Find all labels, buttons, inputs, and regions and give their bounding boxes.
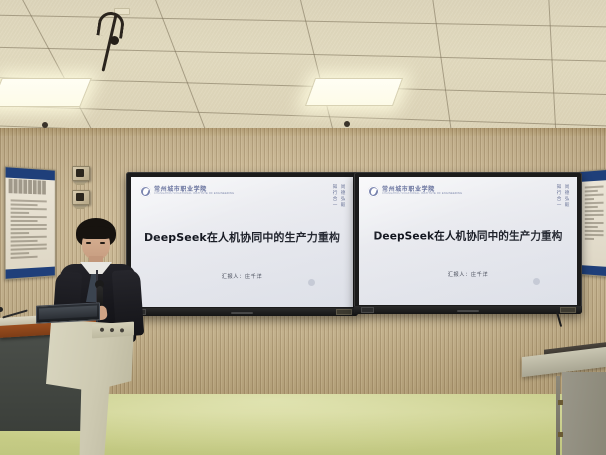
lectern <box>0 305 136 455</box>
slide-vertical-motto: 尚德弘毅 知行合一 <box>331 184 345 208</box>
lectern-control-panel[interactable] <box>92 322 134 339</box>
logo-text-block: 常州城市职业学院 CHANGZHOU VOCATIONAL INSTITUTE … <box>154 187 234 196</box>
speaker-grill <box>76 193 84 201</box>
slide-logo: 常州城市职业学院 CHANGZHOU VOCATIONAL INSTITUTE … <box>140 186 234 197</box>
board-text-lines <box>580 180 606 245</box>
lectern-knob[interactable] <box>100 328 104 332</box>
slide-presenter: 汇报人：庄千洋 <box>131 273 353 280</box>
lectern-monitor[interactable] <box>36 302 100 323</box>
side-console-table <box>522 340 606 455</box>
display-brand-logo <box>457 310 479 312</box>
ceiling-camera-icon <box>110 36 119 45</box>
slide-watermark <box>533 278 540 285</box>
display-control-buttons[interactable] <box>336 309 352 315</box>
desk-hinge <box>558 432 563 437</box>
board-footer <box>580 265 606 276</box>
slide-presenter: 汇报人：庄千洋 <box>359 271 577 278</box>
wall-speaker-icon <box>72 166 90 181</box>
ceiling-light-panel <box>0 78 92 107</box>
slide-motto-1: 尚德弘毅 <box>339 184 345 208</box>
desk-hinge <box>558 400 563 405</box>
display-bezel-bottom <box>126 308 358 316</box>
lecture-hall-photo: 尚德弘毅 知行合一 常州城市职业学院 CHANGZHOU VOCATIONAL … <box>0 0 606 455</box>
university-emblem-icon <box>140 186 151 197</box>
wall-notice-board-left[interactable] <box>5 166 56 280</box>
desk-leg <box>556 376 560 455</box>
wall-trim <box>0 128 606 136</box>
slide-watermark <box>308 279 315 286</box>
speaker-grill <box>76 169 84 177</box>
board-columns <box>6 178 55 196</box>
presenter-eye <box>86 242 91 244</box>
desk-front-panel <box>562 372 606 455</box>
lectern-knob[interactable] <box>120 328 124 332</box>
slide-logo: 常州城市职业学院 CHANGZHOU VOCATIONAL INSTITUTE … <box>368 186 462 197</box>
slide-motto-2: 知行合一 <box>331 184 337 208</box>
ceiling-seam <box>0 104 606 128</box>
presentation-display-right[interactable]: 常州城市职业学院 CHANGZHOU VOCATIONAL INSTITUTE … <box>354 172 582 314</box>
display-control-buttons[interactable] <box>560 307 576 313</box>
slide-motto-1: 尚德弘毅 <box>563 184 569 208</box>
university-emblem-icon <box>368 186 379 197</box>
presenter-eye <box>100 242 105 244</box>
ceiling-seam <box>429 0 488 132</box>
display-ir-receiver <box>361 307 374 313</box>
wall-notice-board-right[interactable] <box>579 169 606 277</box>
presenter-fringe <box>78 226 114 239</box>
ceiling-fixture-dot <box>344 121 350 127</box>
slide-title: DeepSeek在人机协同中的生产力重构 <box>131 229 353 245</box>
ceiling-seam <box>0 46 606 63</box>
board-text-lines <box>6 194 55 264</box>
ceiling-light-panel <box>305 78 403 106</box>
display-brand-logo <box>231 312 253 314</box>
ceiling-seam <box>547 0 570 132</box>
slide-vertical-motto: 尚德弘毅 知行合一 <box>555 184 569 208</box>
logo-text-block: 常州城市职业学院 CHANGZHOU VOCATIONAL INSTITUTE … <box>382 187 462 196</box>
display-bezel-bottom <box>354 306 582 314</box>
logo-name-en: CHANGZHOU VOCATIONAL INSTITUTE OF ENGINE… <box>382 193 462 195</box>
lectern-knob[interactable] <box>110 328 114 332</box>
board-footer <box>6 267 55 279</box>
gooseneck-microphone-head <box>0 307 3 312</box>
presentation-display-left[interactable]: 常州城市职业学院 CHANGZHOU VOCATIONAL INSTITUTE … <box>126 172 358 316</box>
lectern-monitor-screen[interactable] <box>39 305 97 319</box>
wall-speaker-icon <box>72 190 90 205</box>
logo-name-en: CHANGZHOU VOCATIONAL INSTITUTE OF ENGINE… <box>154 193 234 195</box>
slide-motto-2: 知行合一 <box>555 184 561 208</box>
slide-title: DeepSeek在人机协同中的生产力重构 <box>359 228 577 243</box>
ceiling <box>0 0 606 132</box>
display-screen[interactable]: 常州城市职业学院 CHANGZHOU VOCATIONAL INSTITUTE … <box>359 177 577 305</box>
display-screen[interactable]: 常州城市职业学院 CHANGZHOU VOCATIONAL INSTITUTE … <box>131 177 353 307</box>
